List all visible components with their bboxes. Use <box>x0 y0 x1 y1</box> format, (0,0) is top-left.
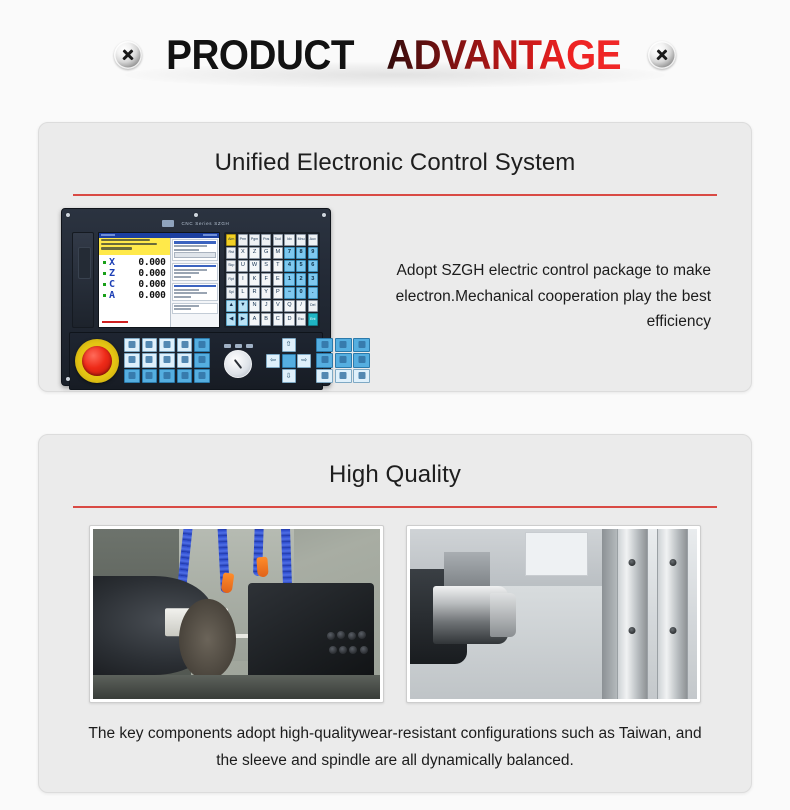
feed-hold-button[interactable] <box>335 353 352 367</box>
cnc-brand-bar: CNC Series SZGH <box>83 218 309 229</box>
screen-status-banner <box>99 238 170 255</box>
key-minus[interactable]: − <box>284 287 294 299</box>
key-u[interactable]: U <box>238 260 248 272</box>
panel-screw-icon <box>66 377 70 381</box>
key-8[interactable]: 8 <box>296 247 306 259</box>
fkey-auto[interactable] <box>124 338 140 352</box>
key-menu[interactable]: Mnu <box>296 234 306 246</box>
key-c[interactable]: C <box>273 313 283 325</box>
axis-value: 0.000 <box>121 269 166 279</box>
page-title-advantage: ADVANTAGE <box>387 34 622 76</box>
page-title-product: PRODUCT <box>166 34 354 76</box>
key-3[interactable]: 3 <box>308 273 318 285</box>
spindle-ccw-button[interactable] <box>316 338 333 352</box>
key-repeat[interactable]: Rpt <box>226 273 236 285</box>
cnc-controller-panel: CNC Series SZGH <box>61 208 331 386</box>
axis-label: A <box>109 291 118 301</box>
key-single[interactable]: Spl <box>226 287 236 299</box>
key-v[interactable]: V <box>273 300 283 312</box>
key-b[interactable]: B <box>261 313 271 325</box>
key-z[interactable]: Z <box>249 247 259 259</box>
key-i[interactable]: I <box>238 273 248 285</box>
panel-screw-icon <box>194 213 198 217</box>
card-1-description: Adopt SZGH electric control package to m… <box>337 258 729 335</box>
fkey-edit[interactable] <box>142 338 158 352</box>
fkey-handwheel[interactable] <box>142 353 158 367</box>
cnc-side-port-panel <box>72 232 94 328</box>
key-w[interactable]: W <box>249 260 259 272</box>
axis-value: 0.000 <box>121 280 166 290</box>
cnc-lathe-coolant-hoses-photo <box>89 525 384 703</box>
machine-function-keypad[interactable] <box>124 338 210 384</box>
key-k[interactable]: K <box>249 273 259 285</box>
screen-position-pane: X 0.000 Z 0.000 <box>99 238 170 327</box>
screen-machine-load-box <box>172 283 217 302</box>
fkey-lamp[interactable] <box>194 369 210 383</box>
cnc-brand-text: CNC Series SZGH <box>181 221 229 226</box>
axis-row: Z 0.000 <box>103 269 166 279</box>
emergency-stop-button[interactable] <box>75 339 119 383</box>
axis-row: C 0.000 <box>103 280 166 290</box>
key-index[interactable]: Idx <box>284 234 294 246</box>
fkey-zero-return[interactable] <box>124 353 140 367</box>
key-p[interactable]: P <box>273 287 283 299</box>
key-1[interactable]: 1 <box>284 273 294 285</box>
key-d[interactable]: D <box>284 313 294 325</box>
key-t[interactable]: T <box>273 260 283 272</box>
fkey-jog[interactable] <box>177 338 193 352</box>
panel-screw-icon <box>322 213 326 217</box>
card-1-body: CNC Series SZGH <box>39 196 751 386</box>
fkey-block-skip[interactable] <box>177 353 193 367</box>
key-program[interactable]: Pgm <box>249 234 259 246</box>
emergency-stop-cap[interactable] <box>82 346 112 376</box>
screen-machine-status-box <box>172 263 217 282</box>
key-r[interactable]: R <box>249 287 259 299</box>
key-q[interactable]: Q <box>284 300 294 312</box>
jog-left-button[interactable]: ⇦ <box>266 354 280 368</box>
key-enter[interactable]: Ent <box>308 313 318 325</box>
key-skip[interactable]: Skp <box>226 260 236 272</box>
spindle-cw-button[interactable] <box>353 338 370 352</box>
key-dot[interactable]: . <box>308 287 318 299</box>
fkey-lubrication[interactable] <box>177 369 193 383</box>
key-n[interactable]: N <box>249 300 259 312</box>
axis-value: 0.000 <box>121 258 166 268</box>
arrowpad-blank <box>266 338 280 352</box>
axis-indicator-icon <box>103 272 106 275</box>
key-arrow-right[interactable]: ▶ <box>238 313 248 325</box>
key-arrow-up[interactable]: ▲ <box>226 300 236 312</box>
fkey-chuck[interactable] <box>142 369 158 383</box>
cycle-start-button[interactable] <box>316 353 333 367</box>
key-4[interactable]: 4 <box>284 260 294 272</box>
screw-x-icon-right <box>648 41 676 69</box>
card-2-title: High Quality <box>39 435 751 489</box>
jog-down-button[interactable]: ⇩ <box>282 369 296 383</box>
cnc-display-screen: X 0.000 Z 0.000 <box>98 232 220 328</box>
axis-value: 0.000 <box>121 291 166 301</box>
screen-main: X 0.000 Z 0.000 <box>99 238 219 327</box>
key-j[interactable]: J <box>261 300 271 312</box>
panel-screw-icon <box>66 213 70 217</box>
key-alarm[interactable]: Alm <box>226 234 236 246</box>
axis-indicator-icon <box>103 294 106 297</box>
key-0[interactable]: 0 <box>296 287 306 299</box>
fkey-mdi[interactable] <box>159 338 175 352</box>
cnc-logo-icon <box>162 220 174 227</box>
key-s[interactable]: S <box>261 260 271 272</box>
key-e[interactable]: E <box>273 273 283 285</box>
fkey-single-block[interactable] <box>159 353 175 367</box>
card-unified-electronic-control-system: Unified Electronic Control System CNC Se… <box>38 122 752 392</box>
fkey-coolant[interactable] <box>124 369 140 383</box>
feed-rate-icons <box>224 344 253 348</box>
header-title-group: PRODUCT ADVANTAGE <box>114 34 675 76</box>
power-button[interactable] <box>353 369 370 383</box>
key-6[interactable]: 6 <box>308 260 318 272</box>
cnc-upper-section: X 0.000 Z 0.000 <box>69 232 323 328</box>
key-escape[interactable]: Esc <box>296 313 306 325</box>
key-m[interactable]: M <box>273 247 283 259</box>
axis-jog-arrow-pad[interactable]: ⇧ ⇦ ⇨ ⇩ <box>266 338 311 383</box>
arrowpad-blank <box>297 369 311 383</box>
card-2-caption: The key components adopt high-qualitywea… <box>39 703 751 774</box>
arrowpad-blank <box>266 369 280 383</box>
key-7[interactable]: 7 <box>284 247 294 259</box>
key-arrow-left[interactable]: ◀ <box>226 313 236 325</box>
cnc-keypad[interactable]: Alm Prm Pgm Pos Tool Idx Mnu Aux Rst X Z… <box>224 232 320 328</box>
axis-readout-list: X 0.000 Z 0.000 <box>99 255 170 320</box>
card-high-quality: High Quality <box>38 434 752 793</box>
axis-row: A 0.000 <box>103 291 166 301</box>
key-position[interactable]: Pos <box>261 234 271 246</box>
card-1-title: Unified Electronic Control System <box>39 123 751 177</box>
program-stop-button[interactable] <box>353 353 370 367</box>
fkey-rapid[interactable] <box>194 338 210 352</box>
card-2-photo-row <box>39 508 751 703</box>
screen-params-box <box>172 303 217 314</box>
screen-program-box <box>172 239 217 261</box>
axis-label: C <box>109 280 118 290</box>
axis-indicator-icon <box>103 283 106 286</box>
key-param[interactable]: Prm <box>238 234 248 246</box>
spindle-stop-button[interactable] <box>335 338 352 352</box>
key-slash[interactable]: / <box>296 300 306 312</box>
fkey-dry-run[interactable] <box>194 353 210 367</box>
key-tool[interactable]: Tool <box>273 234 283 246</box>
key-5[interactable]: 5 <box>296 260 306 272</box>
spare-button[interactable] <box>316 369 333 383</box>
spindle-control-keypad[interactable] <box>316 338 370 384</box>
key-l[interactable]: L <box>238 287 248 299</box>
arrowpad-blank <box>297 338 311 352</box>
key-reset[interactable]: Rst <box>226 247 236 259</box>
key-delete[interactable]: Del <box>308 300 318 312</box>
jog-up-button[interactable]: ⇧ <box>282 338 296 352</box>
jog-right-button[interactable]: ⇨ <box>297 354 311 368</box>
key-arrow-down[interactable]: ▼ <box>238 300 248 312</box>
key-2[interactable]: 2 <box>296 273 306 285</box>
key-g[interactable]: G <box>261 247 271 259</box>
jog-rapid-button[interactable] <box>282 354 296 368</box>
key-x[interactable]: X <box>238 247 248 259</box>
screen-info-pane <box>170 238 219 327</box>
cnc-operator-panel: ⇧ ⇦ ⇨ ⇩ <box>69 332 323 390</box>
jog-dial-zone <box>215 337 261 385</box>
key-aux[interactable]: Aux <box>308 234 318 246</box>
warning-lamp-button[interactable] <box>335 369 352 383</box>
key-9[interactable]: 9 <box>308 247 318 259</box>
page-header: PRODUCT ADVANTAGE <box>0 0 790 110</box>
fkey-tailstock[interactable] <box>159 369 175 383</box>
key-f[interactable]: F <box>261 273 271 285</box>
axis-indicator-icon <box>103 261 106 264</box>
cnc-spindle-guide-rails-photo <box>406 525 701 703</box>
screen-message-line <box>99 320 170 327</box>
jog-dial[interactable] <box>224 350 252 378</box>
key-y[interactable]: Y <box>261 287 271 299</box>
cnc-controller-image-wrap: CNC Series SZGH <box>61 208 337 386</box>
key-a[interactable]: A <box>249 313 259 325</box>
axis-row: X 0.000 <box>103 258 166 268</box>
axis-label: Z <box>109 269 118 279</box>
screw-x-icon-left <box>114 41 142 69</box>
axis-label: X <box>109 258 118 268</box>
